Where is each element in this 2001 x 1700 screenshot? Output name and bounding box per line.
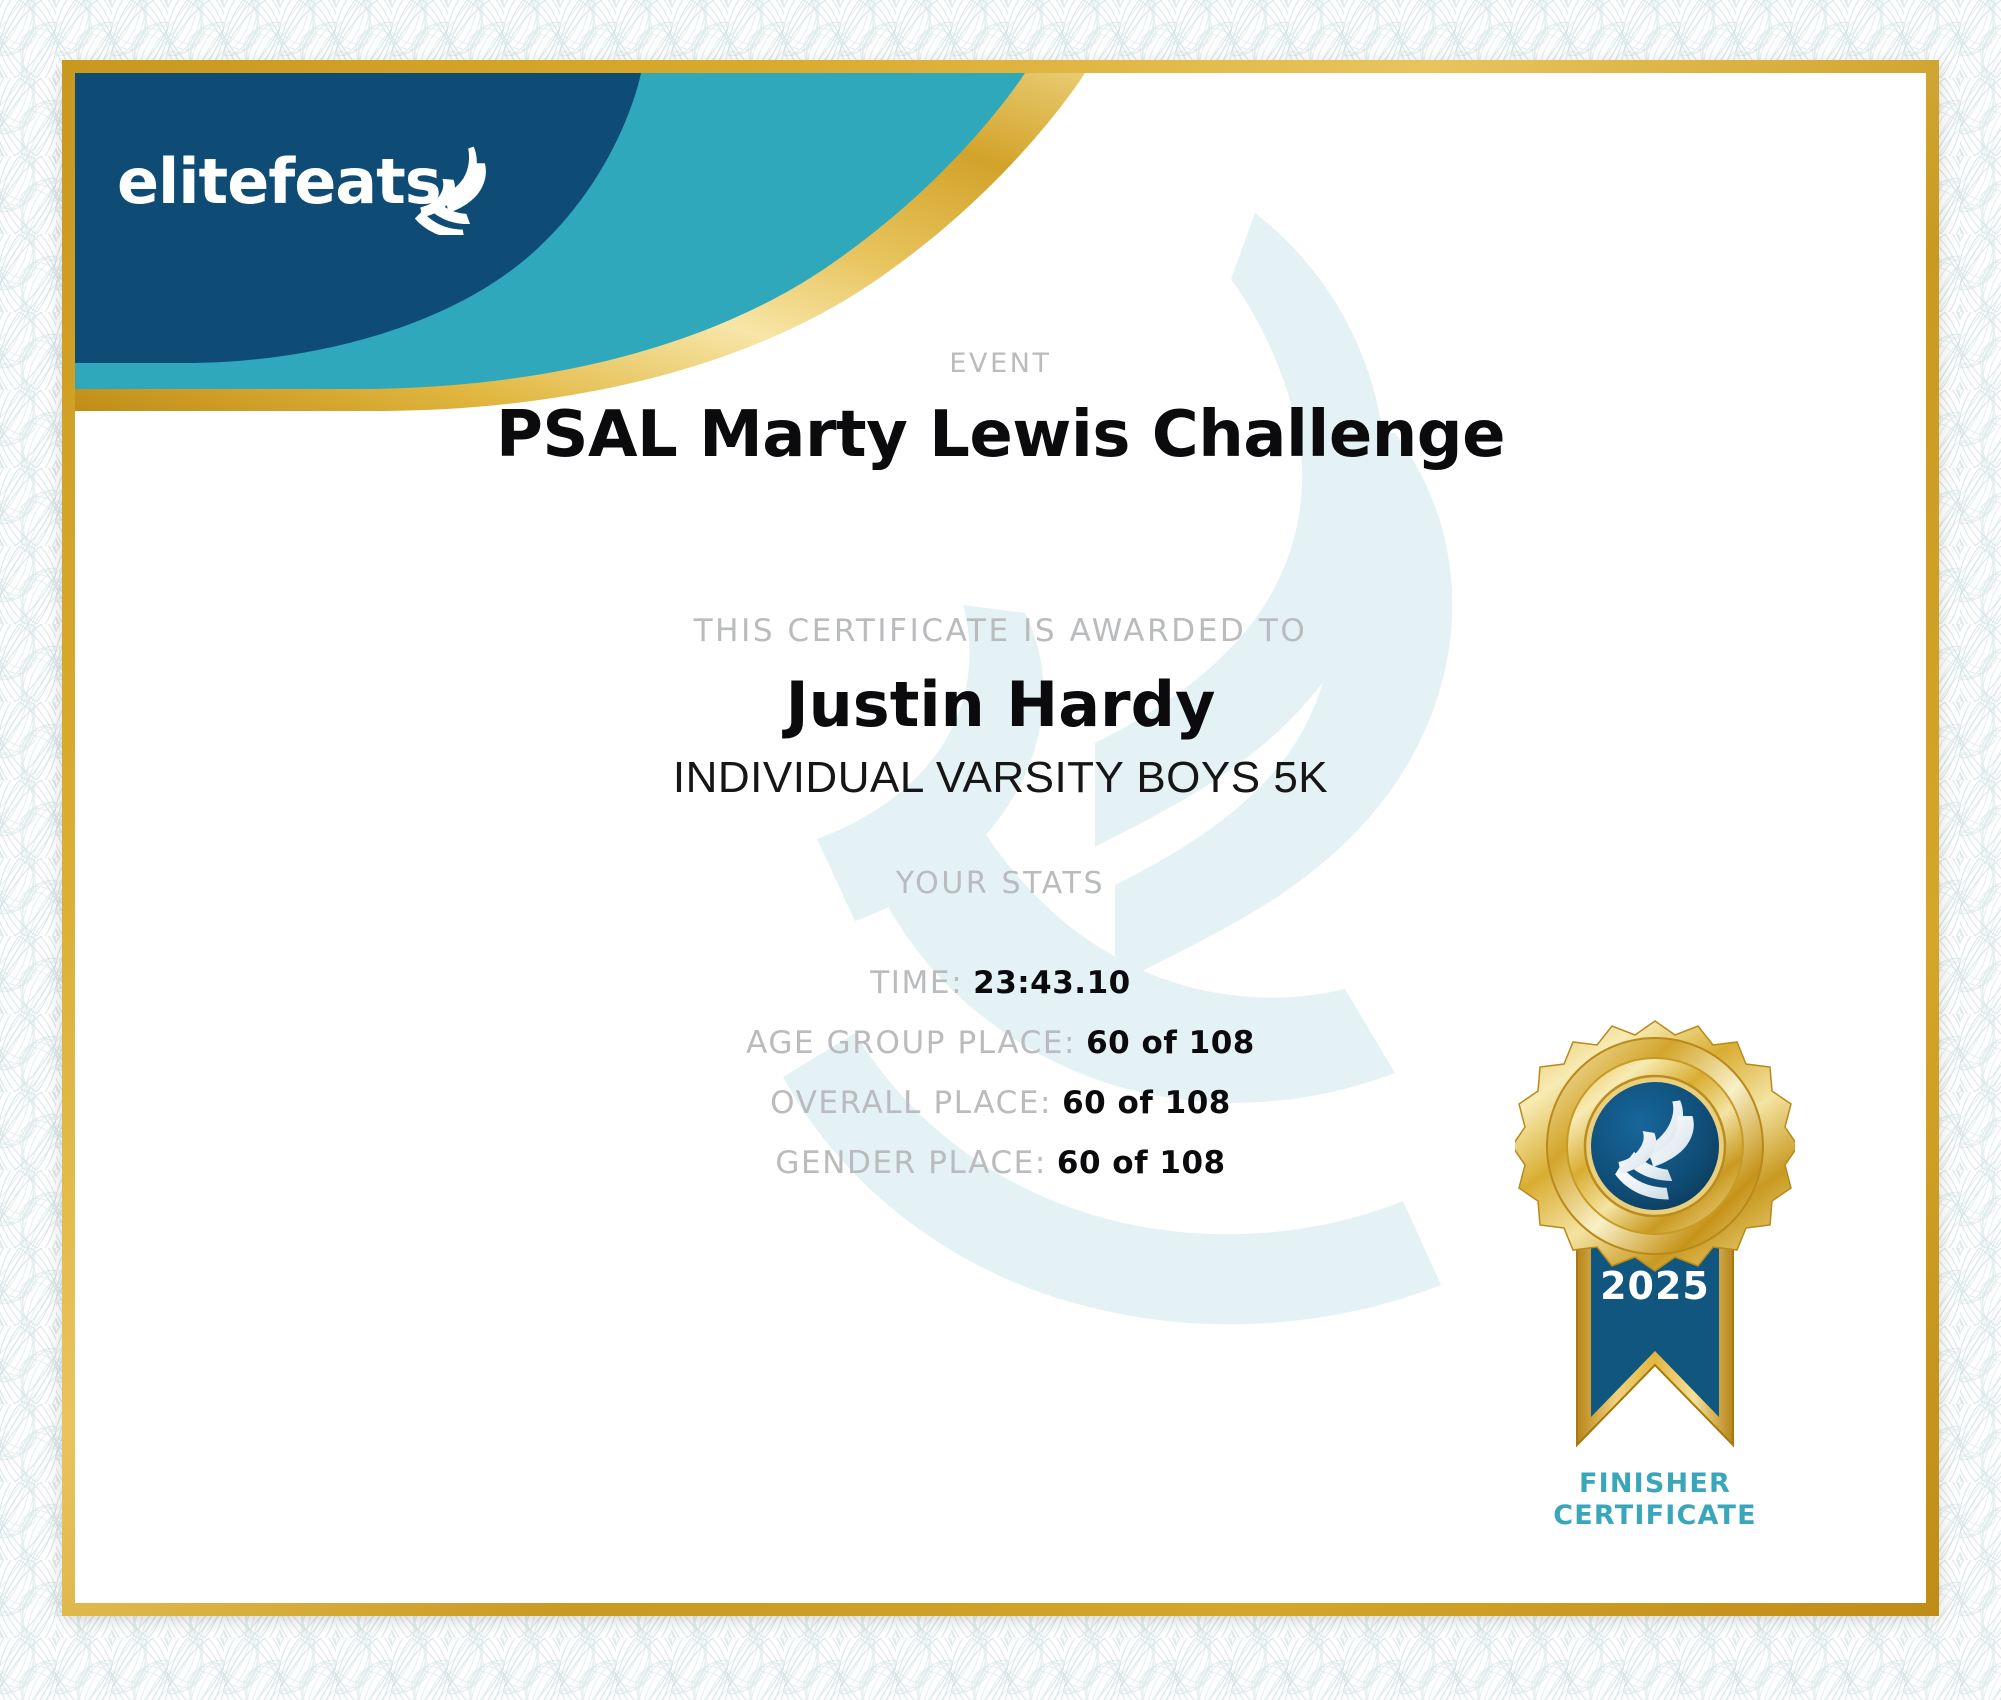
stat-row-time: TIME:23:43.10 (75, 953, 1926, 1013)
certificate-page: elitefeats EVENT PSAL Marty Lewis Challe… (0, 0, 2001, 1700)
stat-label: OVERALL PLACE: (770, 1085, 1052, 1121)
stat-value: 60 of 108 (1057, 1145, 1226, 1181)
gold-medal-seal-icon: 2025 (1515, 1013, 1795, 1493)
seal-caption: FINISHER CERTIFICATE (1490, 1468, 1820, 1532)
stat-value: 23:43.10 (973, 965, 1131, 1001)
recipient-name: Justin Hardy (75, 668, 1926, 741)
stat-value: 60 of 108 (1086, 1025, 1255, 1061)
stat-label: GENDER PLACE: (775, 1145, 1046, 1181)
elitefeats-logo: elitefeats (117, 135, 517, 235)
awarded-to-label: THIS CERTIFICATE IS AWARDED TO (75, 613, 1926, 649)
stat-value: 60 of 108 (1062, 1085, 1231, 1121)
gold-border-frame: elitefeats EVENT PSAL Marty Lewis Challe… (62, 60, 1939, 1616)
stats-label: YOUR STATS (75, 866, 1926, 901)
stat-label: TIME: (870, 965, 963, 1001)
stat-label: AGE GROUP PLACE: (746, 1025, 1076, 1061)
event-title: PSAL Marty Lewis Challenge (75, 398, 1926, 472)
certificate-canvas: elitefeats EVENT PSAL Marty Lewis Challe… (75, 73, 1926, 1603)
seal-caption-line-1: FINISHER (1490, 1468, 1820, 1500)
event-label: EVENT (75, 348, 1926, 379)
seal-caption-line-2: CERTIFICATE (1490, 1500, 1820, 1532)
recipient-category: INDIVIDUAL VARSITY BOYS 5K (75, 753, 1926, 803)
logo-wordmark: elitefeats (117, 145, 441, 218)
